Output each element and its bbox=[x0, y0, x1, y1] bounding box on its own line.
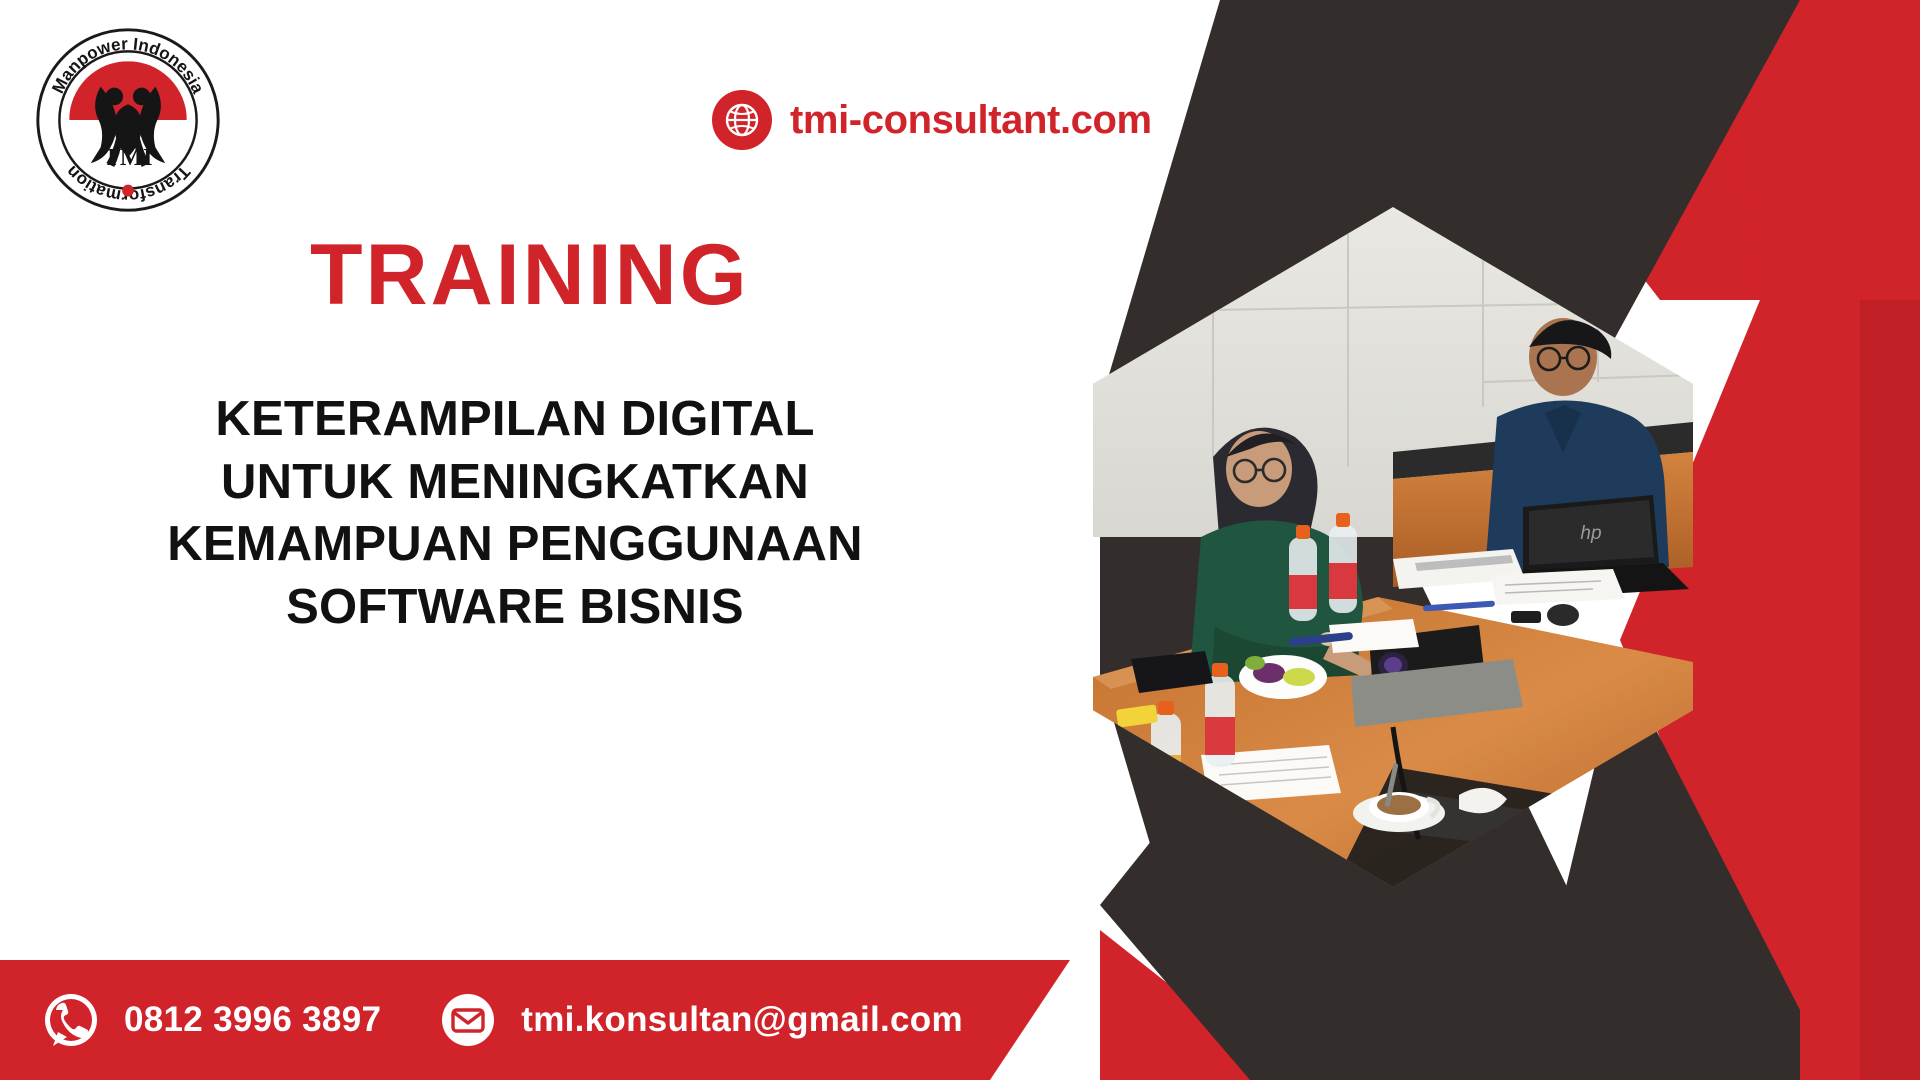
logo-red-dot bbox=[122, 185, 134, 197]
usb-device bbox=[1511, 611, 1541, 623]
page-title: TRAINING bbox=[310, 232, 750, 318]
website-url-text[interactable]: tmi-consultant.com bbox=[790, 98, 1152, 143]
logo-abbr-text: TMI bbox=[104, 144, 153, 171]
globe-icon bbox=[712, 90, 772, 150]
tmi-circular-logo: TMI Manpower Indonesia Transformation bbox=[30, 22, 226, 218]
training-subtitle: KETERAMPILAN DIGITAL UNTUK MENINGKATKAN … bbox=[70, 388, 960, 639]
svg-text:hp: hp bbox=[1580, 523, 1601, 544]
email-address-text[interactable]: tmi.konsultan@gmail.com bbox=[521, 1000, 963, 1040]
subtitle-line-1: KETERAMPILAN DIGITAL bbox=[70, 388, 960, 451]
whatsapp-icon bbox=[40, 989, 102, 1051]
email-contact[interactable]: tmi.konsultan@gmail.com bbox=[437, 989, 963, 1051]
pen-blue bbox=[1423, 600, 1495, 611]
website-row[interactable]: tmi-consultant.com bbox=[712, 90, 1152, 150]
red-shade-edge bbox=[1860, 300, 1920, 1080]
mouse bbox=[1547, 604, 1579, 626]
subtitle-line-4: SOFTWARE BISNIS bbox=[70, 576, 960, 639]
whatsapp-contact[interactable]: 0812 3996 3897 bbox=[40, 989, 381, 1051]
phone-number-text[interactable]: 0812 3996 3897 bbox=[124, 1000, 381, 1040]
poster-canvas: hp bbox=[0, 0, 1920, 1080]
envelope-icon bbox=[437, 989, 499, 1051]
contact-footer-bar: 0812 3996 3897 tmi.konsultan@gmail.com bbox=[0, 960, 1070, 1080]
subtitle-line-2: UNTUK MENINGKATKAN bbox=[70, 451, 960, 514]
subtitle-line-3: KEMAMPUAN PENGGUNAAN bbox=[70, 513, 960, 576]
